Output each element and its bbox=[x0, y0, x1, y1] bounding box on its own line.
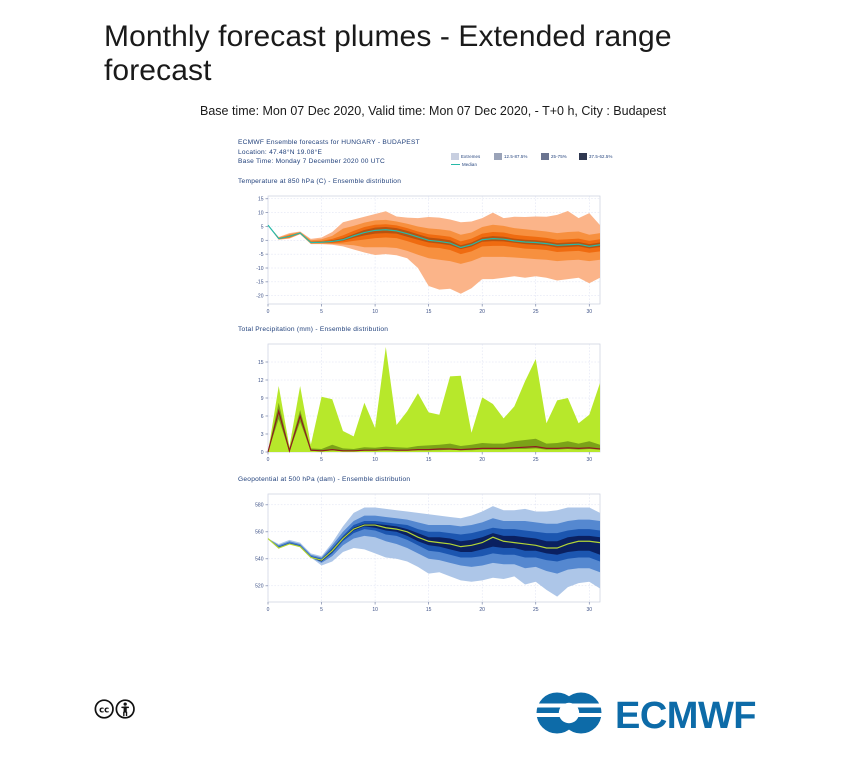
legend-item-p25-75: 25-75% bbox=[541, 153, 567, 160]
svg-text:25: 25 bbox=[533, 309, 539, 315]
legend-label-p37-5-62-5: 37.5-62.5% bbox=[589, 154, 612, 159]
svg-text:0: 0 bbox=[267, 309, 270, 315]
legend-swatch-p37-5-62-5 bbox=[579, 153, 587, 160]
svg-text:20: 20 bbox=[479, 309, 485, 315]
svg-text:3: 3 bbox=[261, 432, 264, 438]
svg-text:20: 20 bbox=[479, 607, 485, 613]
svg-text:540: 540 bbox=[255, 557, 264, 563]
svg-text:0: 0 bbox=[261, 238, 264, 244]
page-title: Monthly forecast plumes - Extended range… bbox=[104, 20, 724, 88]
plot-area-precipitation: 03691215051015202530 bbox=[238, 334, 608, 468]
legend-item-median: Median bbox=[451, 162, 477, 167]
chart-legend: Extremes 12.5-87.5% 25-75% 37.5-62.5% Me… bbox=[451, 153, 601, 173]
svg-text:10: 10 bbox=[258, 210, 264, 216]
legend-swatch-p12-5-87-5 bbox=[494, 153, 502, 160]
legend-label-extremes: Extremes bbox=[461, 154, 480, 159]
svg-text:0: 0 bbox=[267, 457, 270, 463]
svg-text:5: 5 bbox=[320, 309, 323, 315]
svg-text:9: 9 bbox=[261, 396, 264, 402]
svg-text:10: 10 bbox=[372, 607, 378, 613]
panel-title-geopotential: Geopotential at 500 hPa (dam) - Ensemble… bbox=[238, 476, 410, 483]
svg-text:520: 520 bbox=[255, 584, 264, 590]
plot-area-temperature: -20-15-10-5051015051015202530 bbox=[238, 186, 608, 320]
svg-text:5: 5 bbox=[320, 457, 323, 463]
svg-text:5: 5 bbox=[261, 224, 264, 230]
forecast-plume-chart: ECMWF Ensemble forecasts for HUNGARY - B… bbox=[238, 138, 600, 630]
legend-item-p12-5-87-5: 12.5-87.5% bbox=[494, 153, 527, 160]
legend-swatch-extremes bbox=[451, 153, 459, 160]
legend-label-median: Median bbox=[462, 162, 477, 167]
page-subtitle: Base time: Mon 07 Dec 2020, Valid time: … bbox=[200, 104, 820, 118]
ecmwf-logo-text: ECMWF bbox=[615, 695, 756, 736]
svg-text:10: 10 bbox=[372, 309, 378, 315]
svg-text:25: 25 bbox=[533, 457, 539, 463]
chart-header-line-1: ECMWF Ensemble forecasts for HUNGARY - B… bbox=[238, 138, 478, 148]
legend-swatch-median bbox=[451, 164, 460, 165]
svg-text:580: 580 bbox=[255, 503, 264, 509]
plot-area-geopotential: 520540560580051015202530 bbox=[238, 484, 608, 618]
svg-text:10: 10 bbox=[372, 457, 378, 463]
panel-geopotential: Geopotential at 500 hPa (dam) - Ensemble… bbox=[238, 476, 410, 483]
panel-temperature: Temperature at 850 hPa (C) - Ensemble di… bbox=[238, 178, 401, 185]
panel-title-temperature: Temperature at 850 hPa (C) - Ensemble di… bbox=[238, 178, 401, 185]
legend-label-p25-75: 25-75% bbox=[551, 154, 567, 159]
svg-text:-5: -5 bbox=[259, 252, 264, 258]
svg-text:30: 30 bbox=[587, 457, 593, 463]
svg-text:-10: -10 bbox=[256, 266, 263, 272]
svg-text:12: 12 bbox=[258, 378, 264, 384]
svg-text:-20: -20 bbox=[256, 293, 263, 299]
svg-text:-15: -15 bbox=[256, 280, 263, 286]
svg-text:30: 30 bbox=[587, 309, 593, 315]
svg-text:0: 0 bbox=[267, 607, 270, 613]
svg-text:5: 5 bbox=[320, 607, 323, 613]
svg-text:15: 15 bbox=[258, 197, 264, 203]
svg-text:30: 30 bbox=[587, 607, 593, 613]
legend-item-p37-5-62-5: 37.5-62.5% bbox=[579, 153, 612, 160]
svg-text:6: 6 bbox=[261, 414, 264, 420]
poster-page: Monthly forecast plumes - Extended range… bbox=[0, 0, 853, 768]
svg-text:15: 15 bbox=[426, 457, 432, 463]
legend-item-extremes: Extremes bbox=[451, 153, 480, 160]
chart-header: ECMWF Ensemble forecasts for HUNGARY - B… bbox=[238, 138, 478, 167]
ecmwf-logo: ECMWF bbox=[531, 690, 763, 736]
legend-swatch-p25-75 bbox=[541, 153, 549, 160]
panel-title-precipitation: Total Precipitation (mm) - Ensemble dist… bbox=[238, 326, 388, 333]
creative-commons-by-icon: cc bbox=[94, 698, 136, 720]
svg-text:cc: cc bbox=[99, 706, 109, 716]
svg-text:20: 20 bbox=[479, 457, 485, 463]
svg-text:25: 25 bbox=[533, 607, 539, 613]
svg-text:15: 15 bbox=[258, 360, 264, 366]
chart-header-line-3: Base Time: Monday 7 December 2020 00 UTC bbox=[238, 157, 478, 167]
svg-text:0: 0 bbox=[261, 450, 264, 456]
legend-label-p12-5-87-5: 12.5-87.5% bbox=[504, 154, 527, 159]
svg-text:15: 15 bbox=[426, 309, 432, 315]
svg-text:560: 560 bbox=[255, 530, 264, 536]
panel-precipitation: Total Precipitation (mm) - Ensemble dist… bbox=[238, 326, 388, 333]
svg-text:15: 15 bbox=[426, 607, 432, 613]
chart-header-line-2: Location: 47.48°N 19.08°E bbox=[238, 148, 478, 158]
